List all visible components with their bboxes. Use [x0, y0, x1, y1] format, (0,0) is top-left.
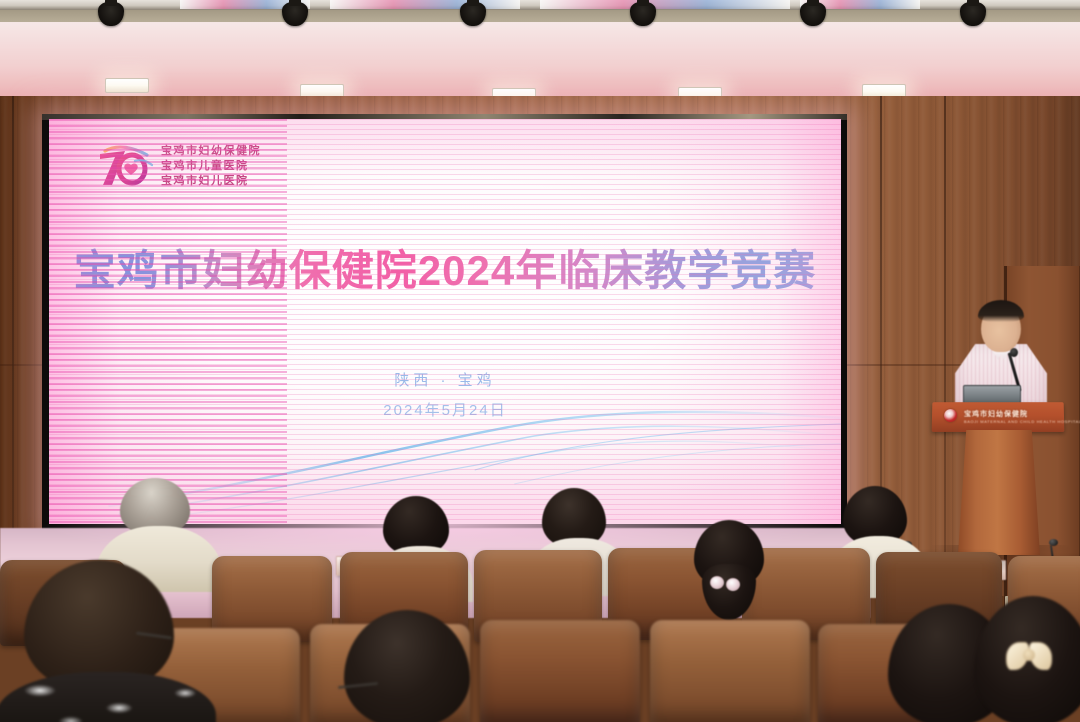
podium-front-panel: 宝鸡市妇幼保健院 BAOJI MATERNAL AND CHILD HEALTH…: [932, 402, 1065, 432]
hospital-logo-text: 宝鸡市妇幼保健院 宝鸡市儿童医院 宝鸡市妇儿医院: [161, 145, 261, 188]
audience-member-foreground: [6, 560, 196, 722]
hospital-logo-lockup: 宝鸡市妇幼保健院 宝鸡市儿童医院 宝鸡市妇儿医院: [95, 145, 261, 189]
hair-scrunchie: [710, 576, 724, 589]
podium-org-name-en: BAOJI MATERNAL AND CHILD HEALTH HOSPITAL: [964, 419, 1080, 424]
led-presentation-screen: 宝鸡市妇幼保健院 宝鸡市儿童医院 宝鸡市妇儿医院 宝鸡市妇幼保健院2024年临床…: [42, 114, 847, 532]
overhead-banner-strip: [540, 0, 790, 9]
logo-org-line-2: 宝鸡市儿童医院: [161, 160, 261, 174]
wall-panel-seam: [944, 96, 946, 596]
bow-knot: [1023, 649, 1035, 661]
slide-canvas: 宝鸡市妇幼保健院 宝鸡市儿童医院 宝鸡市妇儿医院 宝鸡市妇幼保健院2024年临床…: [49, 119, 841, 524]
hair-scrunchie: [726, 578, 740, 591]
blouse-pattern: [0, 672, 216, 722]
audience-member-foreground: [972, 596, 1080, 722]
audience-member: [690, 520, 776, 628]
podium-base: [958, 430, 1040, 555]
wall-panel-seam: [12, 96, 14, 596]
person-shoulders: [0, 672, 216, 722]
person-ponytail: [702, 564, 756, 620]
logo-org-line-3: 宝鸡市妇儿医院: [161, 175, 261, 189]
auditorium-seat: [480, 620, 640, 722]
slide-title: 宝鸡市妇幼保健院2024年临床教学竞赛: [49, 237, 841, 298]
audience-member-foreground: [334, 610, 484, 722]
anniversary-70-logo-icon: [95, 145, 153, 189]
hospital-emblem-icon: [944, 409, 957, 422]
ceiling-light: [105, 78, 149, 93]
auditorium-seat: [650, 620, 810, 722]
hair-bow-accessory: [1006, 642, 1052, 668]
person-head: [344, 610, 470, 722]
podium-org-name: 宝鸡市妇幼保健院: [964, 409, 1028, 419]
speaker-hair: [978, 300, 1024, 322]
logo-org-line-1: 宝鸡市妇幼保健院: [161, 145, 261, 159]
conference-hall-scene: 宝鸡市妇幼保健院 宝鸡市儿童医院 宝鸡市妇儿医院 宝鸡市妇幼保健院2024年临床…: [0, 0, 1080, 722]
podium-microphone-head: [1010, 348, 1018, 357]
overhead-banner-strip: [330, 0, 520, 9]
